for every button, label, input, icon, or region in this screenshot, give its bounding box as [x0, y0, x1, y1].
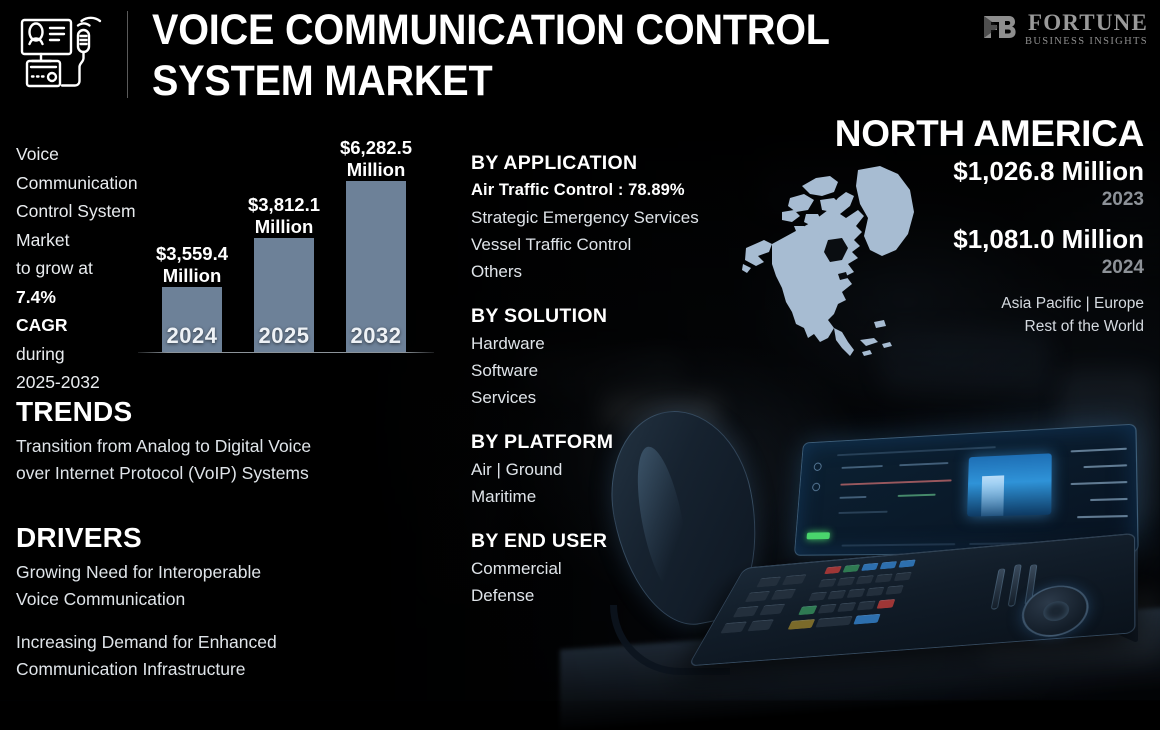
segment-item: Commercial — [471, 555, 741, 582]
segment-item: Others — [471, 258, 741, 285]
bar-label-2025: $3,812.1 Million — [219, 194, 349, 238]
segment-title: BY PLATFORM — [471, 431, 741, 454]
cagr-forecast-period: 2025-2032 — [16, 368, 166, 397]
drivers-heading: DRIVERS — [16, 522, 436, 554]
bar-unit-2024: Million — [127, 265, 257, 287]
bar-value-2032: $6,282.5 — [311, 137, 441, 159]
segment-item: Defense — [471, 582, 741, 609]
segment-item: Air Traffic Control : 78.89% — [471, 177, 741, 204]
segment-item: Vessel Traffic Control — [471, 231, 741, 258]
segment-item: Strategic Emergency Services — [471, 204, 741, 231]
bar-value-2025: $3,812.1 — [219, 194, 349, 216]
header-divider — [127, 11, 128, 98]
drivers-item-2-line-1: Increasing Demand for Enhanced — [16, 629, 436, 656]
drivers-item-2-line-2: Communication Infrastructure — [16, 656, 436, 683]
bar-year-2025: 2025 — [249, 323, 319, 349]
region-year-2024: 2024 — [814, 255, 1144, 280]
page-title: VOICE COMMUNICATION CONTROL SYSTEM MARKE… — [152, 5, 879, 107]
segment-by-solution: BY SOLUTION Hardware Software Services — [471, 305, 741, 411]
segment-title: BY APPLICATION — [471, 152, 741, 175]
segment-item: Air | Ground — [471, 456, 741, 483]
bar-value-2024: $3,559.4 — [127, 243, 257, 265]
bar-label-2024: $3,559.4 Million — [127, 243, 257, 287]
segment-by-application: BY APPLICATION Air Traffic Control : 78.… — [471, 152, 741, 285]
phone-touchscreen — [794, 424, 1139, 556]
trends-heading: TRENDS — [16, 396, 416, 428]
other-regions-line-2: Rest of the World — [814, 315, 1144, 338]
bar-label-2032: $6,282.5 Million — [311, 137, 441, 181]
trends-line-2: over Internet Protocol (VoIP) Systems — [16, 460, 416, 487]
north-america-region-panel: NORTH AMERICA $1,026.8 Million 2023 $1,0… — [814, 112, 1144, 338]
header-bar: VOICE COMMUNICATION CONTROL SYSTEM MARKE… — [0, 0, 1160, 110]
other-regions-line-1: Asia Pacific | Europe — [814, 292, 1144, 315]
segment-item: Hardware — [471, 330, 741, 357]
fb-monogram-icon — [982, 12, 1016, 42]
segment-item: Software — [471, 357, 741, 384]
fortune-business-insights-logo: FORTUNE BUSINESS INSIGHTS — [982, 10, 1148, 52]
region-year-2023: 2023 — [814, 187, 1144, 212]
segment-title: BY END USER — [471, 530, 741, 553]
segment-item: Maritime — [471, 483, 741, 510]
desk-phone-console-photo — [690, 400, 1160, 700]
trends-line-1: Transition from Analog to Digital Voice — [16, 433, 416, 460]
segment-item: Services — [471, 384, 741, 411]
market-size-bar-chart: $3,559.4 Million $3,812.1 Million $6,282… — [130, 120, 430, 360]
bar-year-2032: 2032 — [341, 323, 411, 349]
region-value-2023: $1,026.8 Million — [814, 156, 1144, 187]
voice-control-console-icon — [14, 14, 110, 92]
bar-unit-2032: Million — [311, 159, 441, 181]
other-regions-list: Asia Pacific | Europe Rest of the World — [814, 292, 1144, 338]
drivers-section: DRIVERS Growing Need for Interoperable V… — [16, 522, 436, 683]
drivers-item-1-line-1: Growing Need for Interoperable — [16, 559, 436, 586]
segment-title: BY SOLUTION — [471, 305, 741, 328]
trends-section: TRENDS Transition from Analog to Digital… — [16, 396, 416, 487]
segment-by-platform: BY PLATFORM Air | Ground Maritime — [471, 431, 741, 510]
region-title: NORTH AMERICA — [814, 112, 1144, 156]
chart-baseline-axis — [138, 352, 434, 353]
segmentation-list: BY APPLICATION Air Traffic Control : 78.… — [471, 152, 741, 629]
bar-unit-2025: Million — [219, 216, 349, 238]
bar-year-2024: 2024 — [157, 323, 227, 349]
drivers-item-1-line-2: Voice Communication — [16, 586, 436, 613]
segment-by-end-user: BY END USER Commercial Defense — [471, 530, 741, 609]
region-value-2024: $1,081.0 Million — [814, 224, 1144, 255]
